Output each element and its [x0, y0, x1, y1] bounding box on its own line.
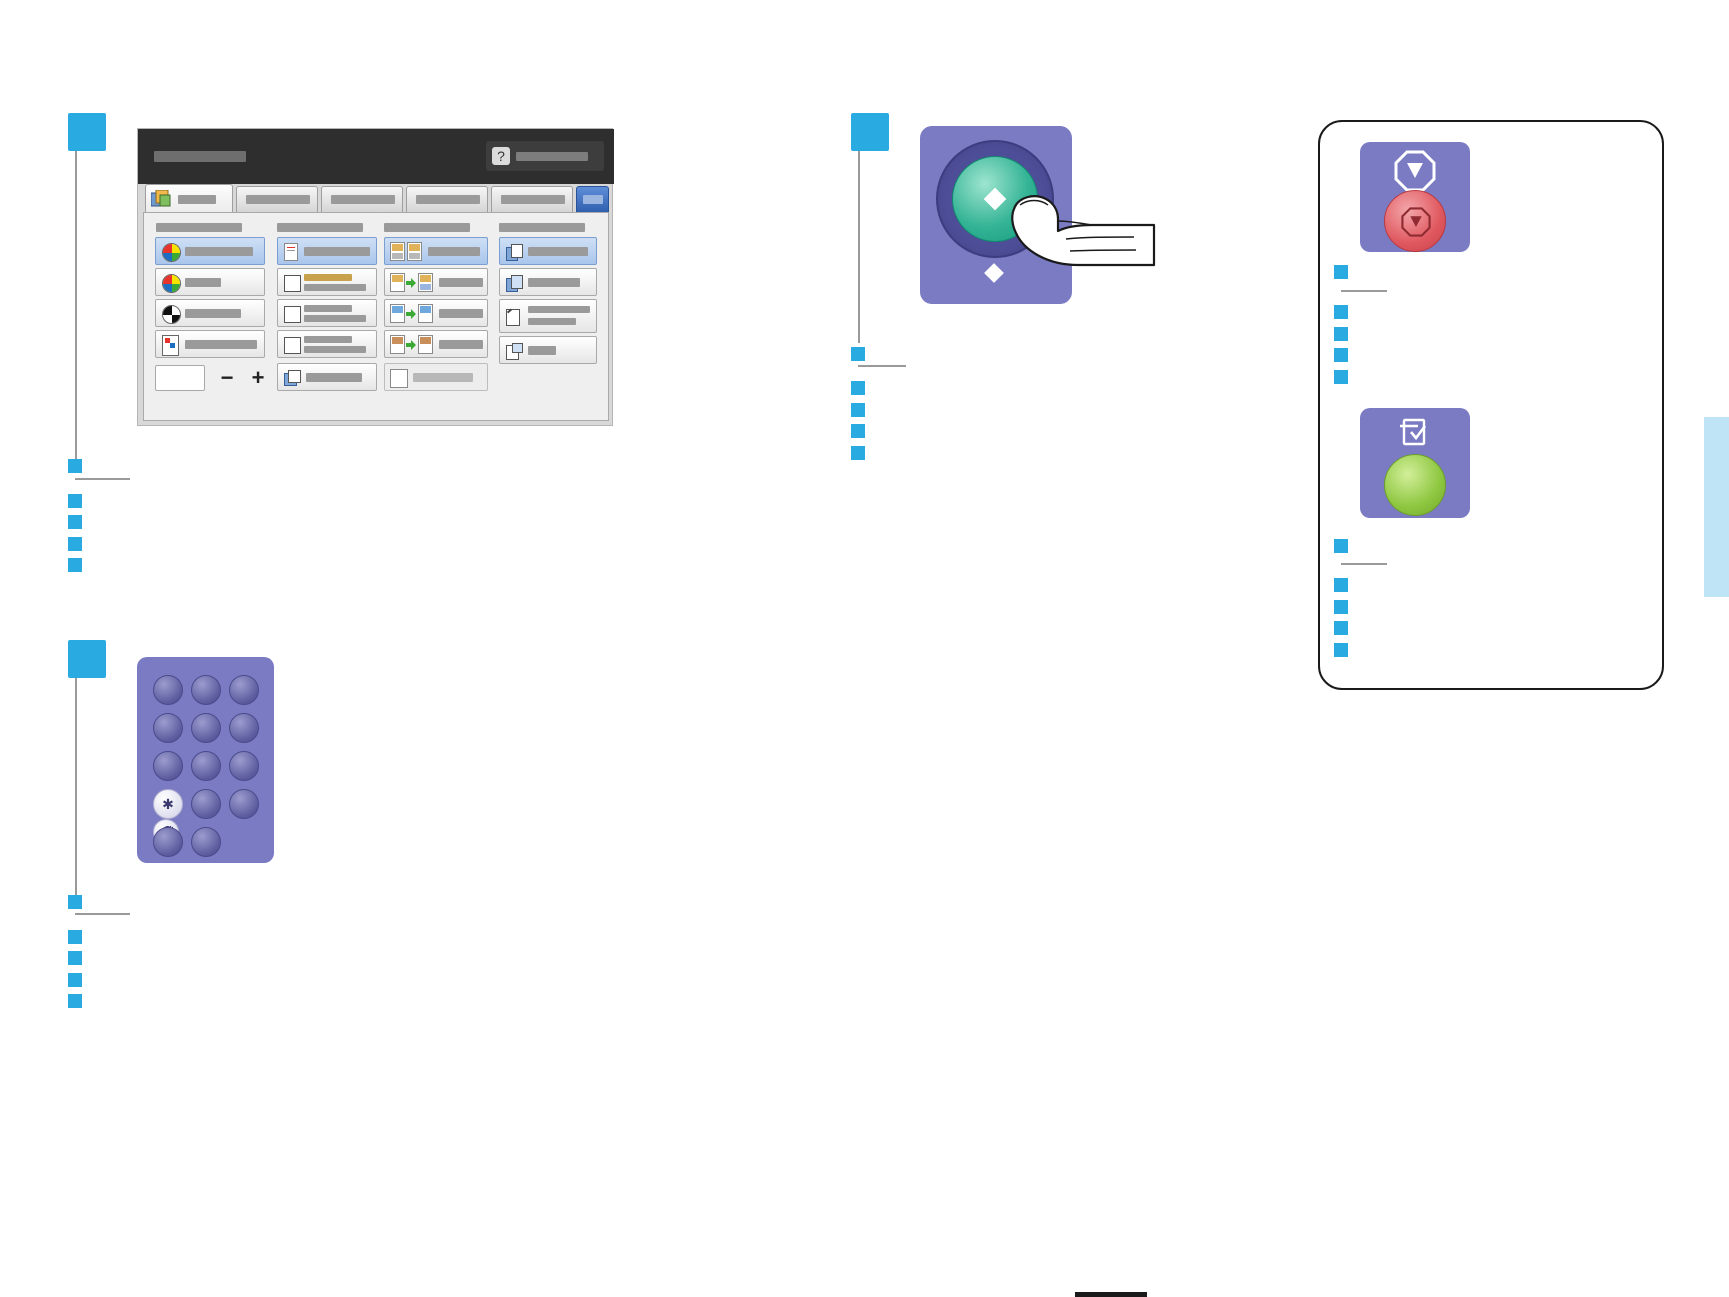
option-auto-detect-label [185, 247, 253, 256]
arrow-right-icon [406, 278, 416, 288]
output-more-icon [506, 343, 522, 359]
option-sided-1to2[interactable] [384, 268, 488, 296]
key-star[interactable]: ✱ [153, 789, 183, 819]
arrow-right-icon [406, 309, 416, 319]
stop-group-bullet [1334, 305, 1348, 319]
step-3-bullet [851, 446, 865, 460]
tray-icon [284, 337, 301, 354]
collated-icon [506, 244, 522, 260]
step-3-bullet [851, 381, 865, 395]
step-1-connector-rule [75, 151, 77, 466]
tab-3[interactable] [321, 186, 403, 212]
option-sided-2to2-label [439, 309, 483, 318]
step-3-number-chip [851, 113, 889, 151]
step-2-underline [75, 913, 130, 915]
option-sided-more-label [413, 373, 473, 382]
step-1-bullet [68, 558, 82, 572]
option-output-stapled-label [528, 306, 590, 313]
tab-6[interactable] [576, 186, 609, 212]
help-button[interactable]: ? [486, 141, 604, 171]
tab-2-label [246, 195, 310, 204]
numeric-keypad[interactable]: ✱ [137, 657, 274, 863]
option-black-white-label [185, 309, 241, 318]
staple-icon [506, 309, 522, 325]
option-color[interactable] [155, 268, 265, 296]
one-to-two-source-icon [390, 273, 405, 292]
option-paper-tray-1-sub [304, 274, 352, 281]
hand-pressing-icon [1008, 175, 1156, 273]
two-to-one-result-icon [418, 335, 433, 354]
tab-4[interactable] [406, 186, 488, 212]
option-paper-auto-label [304, 247, 370, 256]
key-1[interactable] [153, 675, 183, 705]
copies-value-field[interactable] [155, 365, 205, 391]
color-wheel-icon [162, 243, 181, 262]
option-output-collated-label [528, 247, 588, 256]
one-to-two-result-icon [418, 273, 433, 292]
option-output-more[interactable] [499, 336, 597, 364]
tab-2[interactable] [236, 186, 318, 212]
tab-5[interactable] [491, 186, 573, 212]
step-3-bullet [851, 424, 865, 438]
option-output-uncollated-label [528, 278, 580, 287]
interrupt-button-tile[interactable] [1360, 408, 1470, 518]
option-paper-more-label [306, 373, 362, 382]
option-paper-tray-2-label [304, 315, 366, 322]
option-sided-1to2-label [439, 278, 483, 287]
two-to-two-source-icon [390, 304, 405, 323]
option-output-uncollated[interactable] [499, 268, 597, 296]
option-output-stapled[interactable] [499, 299, 597, 333]
option-sided-1to1[interactable] [384, 237, 488, 265]
two-to-two-result-icon [418, 304, 433, 323]
stop-group-bullet [1334, 327, 1348, 341]
option-paper-auto[interactable] [277, 237, 377, 265]
step-3-bullet [851, 403, 865, 417]
option-color-more[interactable] [155, 330, 265, 358]
key-0[interactable] [191, 789, 221, 819]
option-paper-tray-3[interactable] [277, 330, 377, 358]
touch-screen-title [154, 151, 246, 162]
question-mark-icon: ? [492, 147, 510, 165]
option-color-more-label [185, 340, 257, 349]
key-pound[interactable] [229, 789, 259, 819]
stop-group-bullet [1334, 265, 1348, 279]
copies-plus-button[interactable]: + [247, 367, 269, 389]
step-1-number-chip [68, 113, 106, 151]
stop-group-underline [1341, 290, 1387, 292]
arrow-right-icon [406, 340, 416, 350]
step-1-bullet [68, 494, 82, 508]
key-9[interactable] [229, 751, 259, 781]
interrupt-page-icon [1398, 418, 1432, 448]
uncollated-icon [506, 275, 522, 291]
two-to-one-source-icon [390, 335, 405, 354]
stop-octagon-inner-icon [1401, 207, 1431, 237]
copy-icon [151, 190, 173, 208]
control-panel-touch-screen[interactable]: ? [137, 128, 613, 426]
key-6[interactable] [229, 713, 259, 743]
key-c-clear[interactable] [153, 827, 183, 857]
tab-4-label [416, 195, 480, 204]
column-output-color-header [156, 223, 242, 232]
option-paper-tray-3-label [304, 346, 366, 353]
tab-5-label [501, 195, 565, 204]
option-sided-2to1-label [439, 340, 483, 349]
tab-copy[interactable] [145, 184, 233, 213]
option-sided-more[interactable] [384, 363, 488, 391]
option-output-collated[interactable] [499, 237, 597, 265]
start-diamond-icon [984, 188, 1007, 211]
rotate-side-2-icon [390, 369, 408, 388]
option-output-more-label [528, 346, 556, 355]
interrupt-group-bullet [1334, 539, 1348, 553]
page-bottom-crop-mark [1075, 1292, 1147, 1297]
touch-screen-body: − + [143, 212, 609, 421]
step-2-number-chip [68, 640, 106, 678]
tab-copy-label [178, 195, 216, 204]
key-5[interactable] [191, 713, 221, 743]
stop-button[interactable] [1384, 190, 1446, 252]
interrupt-printing-button[interactable] [1384, 454, 1446, 516]
interrupt-group-underline [1341, 563, 1387, 565]
interrupt-group-bullet [1334, 600, 1348, 614]
control-buttons-card [1318, 120, 1664, 690]
start-label-diamond-icon [984, 263, 1004, 283]
paper-stack-icon [284, 370, 300, 385]
stop-group-bullet [1334, 370, 1348, 384]
step-2-connector-rule [75, 678, 77, 898]
option-paper-tray-1[interactable] [277, 268, 377, 296]
step-2-bullet [68, 895, 82, 909]
tray-icon [284, 275, 301, 292]
column-2-sided-header [384, 223, 470, 232]
copies-minus-button[interactable]: − [216, 367, 238, 389]
help-button-label [516, 152, 588, 161]
auto-paper-icon [284, 243, 298, 261]
option-paper-more[interactable] [277, 363, 377, 391]
interrupt-group-bullet [1334, 578, 1348, 592]
stop-button-tile[interactable] [1360, 142, 1470, 252]
option-paper-tray-3-sub [304, 336, 352, 343]
stop-group-bullet [1334, 348, 1348, 362]
option-sided-1to1-label [428, 247, 480, 256]
option-output-stapled-sub [528, 318, 576, 325]
option-sided-2to1[interactable] [384, 330, 488, 358]
key-3[interactable] [229, 675, 259, 705]
step-1-bullet [68, 459, 82, 473]
one-to-one-result-icon [407, 242, 422, 261]
key-2[interactable] [191, 675, 221, 705]
column-output-header [499, 223, 585, 232]
tray-icon [284, 306, 301, 323]
step-3-bullet [851, 347, 865, 361]
step-2-bullet [68, 930, 82, 944]
touch-screen-header: ? [138, 129, 614, 184]
step-2-bullet [68, 973, 82, 987]
option-paper-tray-1-label [304, 284, 366, 291]
option-auto-detect[interactable] [155, 237, 265, 265]
key-4[interactable] [153, 713, 183, 743]
option-black-white[interactable] [155, 299, 265, 327]
step-3-underline [858, 365, 906, 367]
column-paper-supply-header [277, 223, 363, 232]
half-tone-circle-icon [162, 305, 181, 324]
step-2-bullet [68, 994, 82, 1008]
step-1-underline [75, 478, 130, 480]
option-color-label [185, 278, 221, 287]
color-wheel-icon [162, 274, 181, 293]
tab-6-label [583, 195, 603, 204]
key-7[interactable] [153, 751, 183, 781]
step-3-connector-rule [858, 151, 860, 343]
step-1-bullet [68, 515, 82, 529]
option-paper-tray-2-sub [304, 305, 352, 312]
step-2-bullet [68, 951, 82, 965]
svg-text:?: ? [497, 148, 505, 164]
stop-octagon-icon [1394, 150, 1436, 192]
key-extra[interactable] [191, 827, 221, 857]
step-1-bullet [68, 537, 82, 551]
option-sided-2to2[interactable] [384, 299, 488, 327]
interrupt-group-bullet [1334, 643, 1348, 657]
one-to-one-icon [390, 242, 405, 261]
document-color-icon [162, 335, 179, 356]
page-edge-tab [1704, 417, 1729, 597]
interrupt-group-bullet [1334, 621, 1348, 635]
tab-3-label [331, 195, 395, 204]
key-8[interactable] [191, 751, 221, 781]
option-paper-tray-2[interactable] [277, 299, 377, 327]
